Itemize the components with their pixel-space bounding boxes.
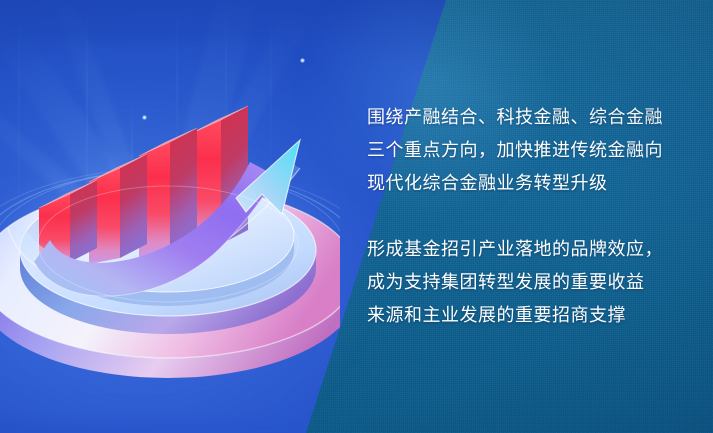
growth-chart-illustration <box>0 0 340 433</box>
text-column: 围绕产融结合、科技金融、综合金融 三个重点方向，加快推进传统金融向 现代化综合金… <box>367 101 697 332</box>
paragraph-2: 形成基金招引产业落地的品牌效应， 成为支持集团转型发展的重要收益 来源和主业发展… <box>367 233 697 332</box>
paragraph-1: 围绕产融结合、科技金融、综合金融 三个重点方向，加快推进传统金融向 现代化综合金… <box>367 101 697 200</box>
banner-root: 围绕产融结合、科技金融、综合金融 三个重点方向，加快推进传统金融向 现代化综合金… <box>0 0 713 433</box>
